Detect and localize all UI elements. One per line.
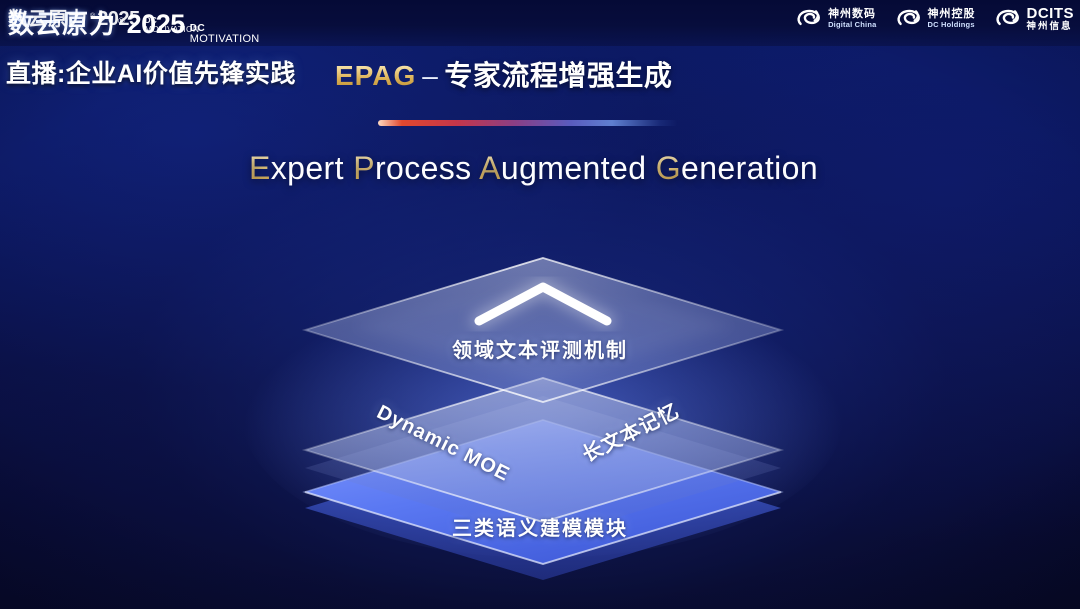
watermark-dc-line2: MOTIVATION	[145, 25, 200, 34]
watermark-logo: 数云原力 ® 2025 DC MOTIVATION	[8, 4, 1070, 605]
slide-stage: 领域文本评测机制 Dynamic MOE 长文本记忆 三类语义建模模块 数云原力…	[0, 0, 1080, 609]
watermark-logo-year: 2025	[97, 8, 140, 31]
watermark-logo-cn: 数云原力	[8, 4, 88, 31]
watermark-logo-dc: DC MOTIVATION	[145, 17, 200, 34]
watermark-registered-mark: ®	[90, 13, 95, 20]
